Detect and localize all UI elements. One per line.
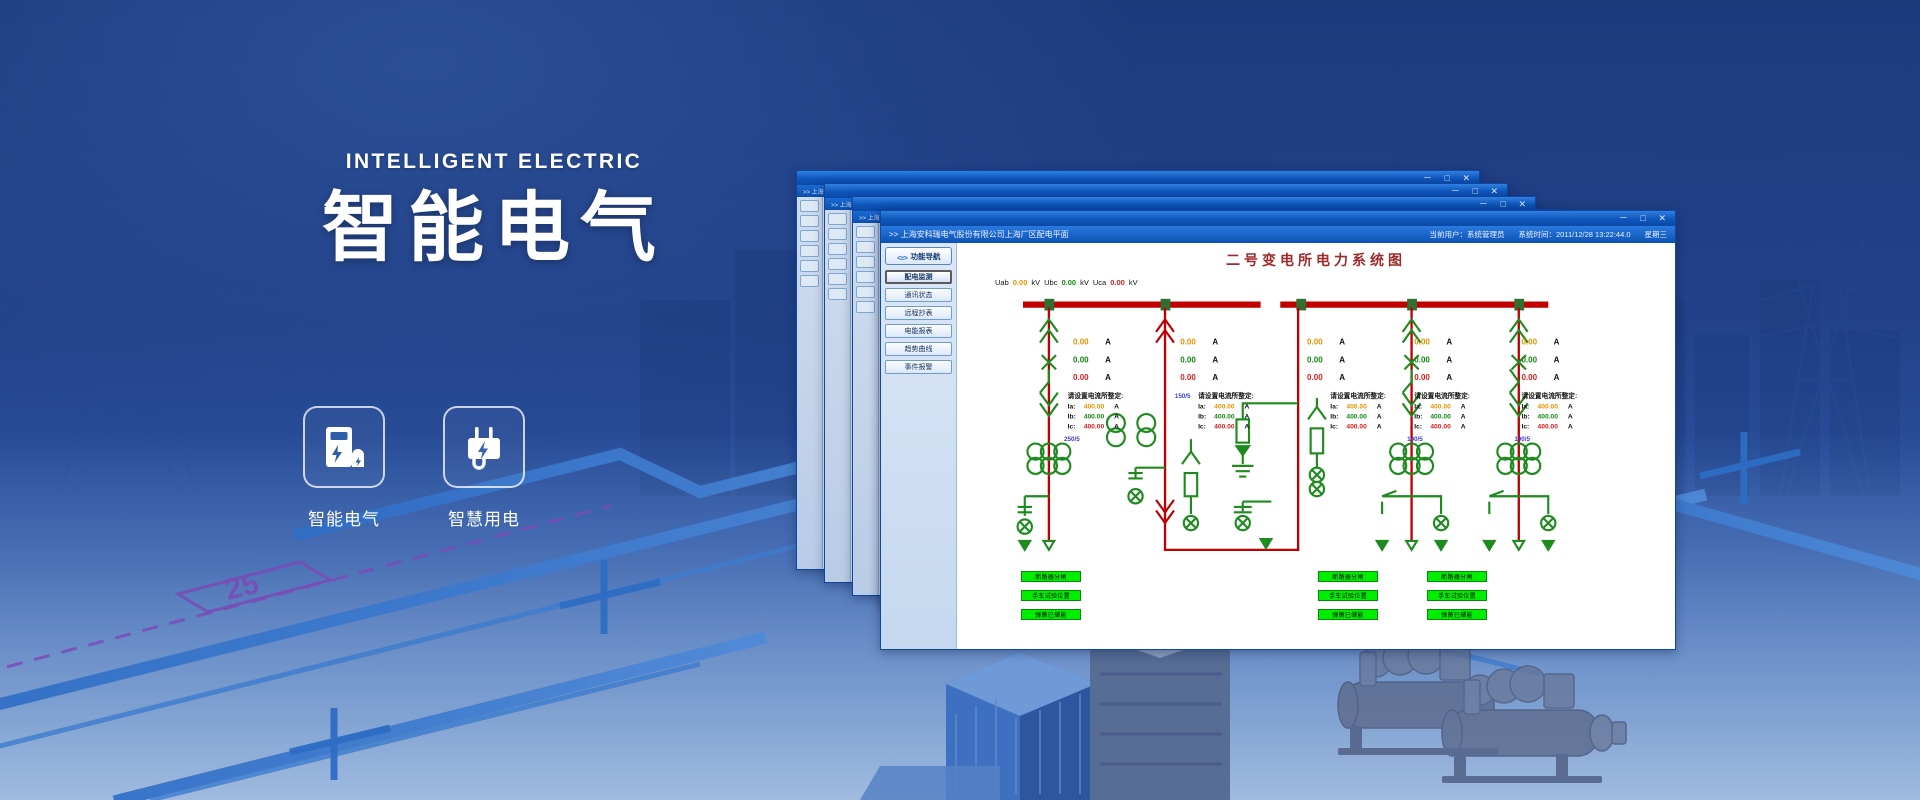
feeder-5-currents: 0.00 A 0.00 A 0.00 A (1521, 337, 1559, 382)
sidebar-button[interactable] (800, 260, 819, 272)
status-badge-trolley[interactable]: 手车试验位置 (1427, 590, 1487, 601)
setting-unit: A (1114, 414, 1119, 421)
sidebar-button[interactable] (828, 273, 847, 285)
single-line-diagram[interactable]: 二号变电所电力系统图 Uab 0.00 kV Ubc 0.00 kV Uca 0… (957, 243, 1675, 649)
setting-unit: A (1377, 404, 1382, 411)
voltage-unit: kV (1129, 278, 1138, 287)
zone-marker-25: 25 (178, 562, 330, 612)
sidebar-button[interactable] (800, 275, 819, 287)
setting-label-ic: Ic: (1068, 423, 1076, 430)
nav-item-label: 配电监测 (905, 272, 933, 282)
book-icon (897, 252, 908, 260)
current-b: 0.00 (1414, 355, 1430, 364)
setting-unit: A (1568, 414, 1573, 421)
setting-label-ib: Ib: (1198, 414, 1206, 421)
current-unit: A (1212, 355, 1218, 364)
sidebar-item-communication-status[interactable]: 通讯状态 (885, 288, 952, 302)
setting-value-ia: 400.00 (1214, 404, 1235, 411)
maximize-icon[interactable]: □ (1641, 213, 1651, 223)
setting-label-ia: Ia: (1330, 404, 1338, 411)
setting-value-ib: 400.00 (1346, 414, 1367, 421)
sidebar-item-remote-meter-reading[interactable]: 远程抄表 (885, 306, 952, 320)
setting-unit: A (1245, 414, 1250, 421)
setting-value-ib: 400.00 (1430, 414, 1451, 421)
setting-label-ic: Ic: (1521, 423, 1529, 430)
page-title: 智能电气 (296, 188, 692, 270)
feeder-5-settings: 请设置电流所整定: Ia: 400.00 A Ib: 400.00 A Ic: … (1514, 391, 1577, 443)
setting-label-ia: Ia: (1521, 404, 1529, 411)
feeder-4-settings: 请设置电流所整定: Ia: 400.00 A Ib: 400.00 A Ic: … (1407, 391, 1470, 443)
setting-label-ic: Ic: (1414, 423, 1422, 430)
sidebar-button[interactable] (828, 213, 847, 225)
feature-icon-box (443, 406, 525, 488)
status-badge-breaker[interactable]: 断路器分闸 (1021, 571, 1081, 582)
sld-svg[interactable]: 0.00 A 0.00 A 0.00 A 请设置电流所整定: Ia: 400.0… (957, 289, 1675, 557)
minimize-icon[interactable]: － (1619, 213, 1633, 223)
feature-list: 智能电气 智慧用电 (296, 406, 532, 530)
pt-earthing-branch (1232, 403, 1298, 548)
status-badge-breaker[interactable]: 断路器分闸 (1427, 571, 1487, 582)
setting-unit: A (1568, 423, 1573, 430)
setting-value-ic: 400.00 (1430, 423, 1451, 430)
close-icon[interactable]: ✕ (1658, 213, 1671, 223)
setting-title: 请设置电流所整定: (1414, 391, 1470, 400)
voltage-label-uca: Uca (1093, 278, 1106, 287)
status-badge-breaker[interactable]: 断路器分闸 (1318, 571, 1378, 582)
setting-title: 请设置电流所整定: (1521, 391, 1577, 400)
feature-label: 智能电气 (308, 505, 380, 530)
setting-unit: A (1568, 404, 1573, 411)
setting-unit: A (1461, 404, 1466, 411)
feeder-1-settings: 请设置电流所整定: Ia: 400.00 A Ib: 400.00 A Ic: … (1064, 391, 1123, 443)
window-stack: － □ ✕ >> 上海安科瑞电气股份有限公司上海厂区配电平面 当前用户：系统管理… (796, 170, 1676, 650)
setting-title: 请设置电流所整定: (1198, 391, 1254, 400)
nav-item-label: 电能报表 (905, 326, 933, 336)
status-badge-spring[interactable]: 弹簧已储能 (1427, 609, 1487, 620)
switchgear-column-1 (1018, 319, 1071, 549)
nav-item-label: 远程抄表 (905, 308, 933, 318)
current-unit: A (1339, 373, 1345, 382)
setting-unit: A (1114, 423, 1119, 430)
banner-root: 25 (0, 0, 1920, 800)
sidebar-button[interactable] (856, 271, 875, 283)
weekday-label: 星期三 (1645, 229, 1668, 240)
current-unit: A (1339, 337, 1345, 346)
power-plug-icon (458, 421, 510, 473)
voltage-unit: kV (1031, 278, 1040, 287)
ct-ratio: 100/5 (1407, 436, 1423, 443)
current-unit: A (1105, 355, 1111, 364)
setting-value-ia: 400.00 (1346, 404, 1367, 411)
current-c: 0.00 (1073, 373, 1089, 382)
setting-label-ib: Ib: (1414, 414, 1422, 421)
current-b: 0.00 (1073, 355, 1089, 364)
window-controls[interactable]: － □ ✕ (1619, 211, 1671, 225)
feeder-1-currents: 0.00 A 0.00 A 0.00 A (1073, 337, 1111, 382)
current-a: 0.00 (1521, 337, 1537, 346)
sidebar-button[interactable] (800, 230, 819, 242)
sidebar-button[interactable] (828, 258, 847, 270)
setting-value-ia: 400.00 (1084, 404, 1105, 411)
setting-unit: A (1377, 414, 1382, 421)
ct-column-2 (1107, 414, 1200, 530)
current-b: 0.00 (1307, 355, 1323, 364)
window-sidebar (825, 210, 851, 582)
sidebar-button[interactable] (828, 228, 847, 240)
current-unit: A (1554, 337, 1560, 346)
voltage-label-uab: Uab (995, 278, 1009, 287)
feeder-4-currents: 0.00 A 0.00 A 0.00 A (1414, 337, 1452, 382)
setting-unit: A (1461, 423, 1466, 430)
current-c: 0.00 (1521, 373, 1537, 382)
window-titlebar[interactable]: － □ ✕ (881, 211, 1675, 226)
sidebar-button[interactable] (800, 200, 819, 212)
setting-label-ib: Ib: (1521, 414, 1529, 421)
window-header-bar: >> 上海安科瑞电气股份有限公司上海厂区配电平面 当前用户：系统管理员 系统时间… (881, 226, 1675, 243)
nav-item-label: 通讯状态 (905, 290, 933, 300)
setting-unit: A (1114, 404, 1119, 411)
status-group-1: 断路器分闸 手车试验位置 弹簧已储能 (1021, 571, 1081, 628)
window-main-content: 功能导航 配电监测 通讯状态 远程抄表 电能报表 趋势曲线 (881, 243, 1675, 649)
status-badge-spring[interactable]: 弹簧已储能 (1021, 609, 1081, 620)
sidebar-item-power-monitoring[interactable]: 配电监测 (885, 270, 952, 284)
breadcrumb: >> 上海安科瑞电气股份有限公司上海厂区配电平面 (889, 229, 1069, 240)
setting-title: 请设置电流所整定: (1068, 391, 1124, 400)
diagram-title: 二号变电所电力系统图 (957, 250, 1675, 270)
current-user-label: 当前用户：系统管理员 (1429, 229, 1504, 240)
sidebar-button[interactable] (828, 243, 847, 255)
fuse-pt-column-3 (1308, 398, 1326, 496)
current-c: 0.00 (1307, 373, 1323, 382)
sidebar-button[interactable] (800, 245, 819, 257)
current-a: 0.00 (1414, 337, 1430, 346)
setting-value-ic: 400.00 (1538, 423, 1559, 430)
sidebar-button[interactable] (856, 301, 875, 313)
busbar-left (1023, 302, 1261, 308)
bus-voltage-readout: Uab 0.00 kV Ubc 0.00 kV Uca 0.00 kV (995, 278, 1675, 287)
hero-eyebrow: INTELLIGENT ELECTRIC (296, 150, 692, 174)
setting-label-ia: Ia: (1414, 404, 1422, 411)
feature-icon-box (303, 406, 385, 488)
current-unit: A (1212, 337, 1218, 346)
current-unit: A (1446, 355, 1452, 364)
setting-unit: A (1245, 423, 1250, 430)
feature-item-smart-power-use[interactable]: 智慧用电 (436, 406, 532, 530)
sidebar-button[interactable] (856, 226, 875, 238)
setting-value-ic: 400.00 (1214, 423, 1235, 430)
current-unit: A (1212, 373, 1218, 382)
feature-label: 智慧用电 (448, 505, 520, 530)
status-badge-trolley[interactable]: 手车试验位置 (1318, 590, 1378, 601)
setting-title: 请设置电流所整定: (1330, 391, 1386, 400)
current-a: 0.00 (1073, 337, 1089, 346)
nav-header-label: 功能导航 (911, 251, 941, 262)
setting-unit: A (1245, 404, 1250, 411)
sidebar-button[interactable] (856, 286, 875, 298)
current-unit: A (1554, 355, 1560, 364)
current-unit: A (1105, 337, 1111, 346)
feeder-2-currents: 0.00 A 0.00 A 0.00 A (1180, 337, 1218, 382)
feature-item-smart-electric[interactable]: 智能电气 (296, 406, 392, 530)
setting-label-ic: Ic: (1330, 423, 1338, 430)
setting-value-ia: 400.00 (1430, 404, 1451, 411)
sidebar-button[interactable] (856, 241, 875, 253)
current-c: 0.00 (1414, 373, 1430, 382)
voltage-label-ubc: Ubc (1044, 278, 1057, 287)
function-navigation-panel: 功能导航 配电监测 通讯状态 远程抄表 电能报表 趋势曲线 (881, 243, 957, 649)
current-a: 0.00 (1307, 337, 1323, 346)
nav-item-label: 趋势曲线 (905, 344, 933, 354)
current-unit: A (1446, 337, 1452, 346)
setting-value-ib: 400.00 (1538, 414, 1559, 421)
system-time-label: 系统时间：2011/12/28 13:22:44.0 (1518, 229, 1630, 240)
status-button-row: 断路器分闸 手车试验位置 弹簧已储能 断路器分闸 手车试验位置 弹簧已储能 断路… (957, 571, 1675, 635)
setting-value-ic: 400.00 (1346, 423, 1367, 430)
current-a: 0.00 (1180, 337, 1196, 346)
nav-header: 功能导航 (885, 247, 952, 265)
current-c: 0.00 (1180, 373, 1196, 382)
voltage-unit: kV (1080, 278, 1089, 287)
sidebar-item-trend-curve[interactable]: 趋势曲线 (885, 342, 952, 356)
sidebar-item-event-alarm[interactable]: 事件报警 (885, 360, 952, 374)
charging-meter-icon (318, 421, 370, 473)
setting-value-ia: 400.00 (1538, 404, 1559, 411)
setting-label-ic: Ic: (1198, 423, 1206, 430)
active-scada-window[interactable]: － □ ✕ >> 上海安科瑞电气股份有限公司上海厂区配电平面 当前用户：系统管理… (880, 210, 1676, 650)
nav-item-label: 事件报警 (905, 362, 933, 372)
current-b: 0.00 (1180, 355, 1196, 364)
status-badge-trolley[interactable]: 手车试验位置 (1021, 590, 1081, 601)
sidebar-button[interactable] (828, 288, 847, 300)
window-sidebar (853, 223, 879, 595)
voltage-value-uab: 0.00 (1013, 278, 1028, 287)
feeder-3-settings: 请设置电流所整定: Ia: 400.00 A Ib: 400.00 A Ic: … (1330, 391, 1386, 430)
status-group-3: 断路器分闸 手车试验位置 弹簧已储能 (1427, 571, 1487, 628)
hero-text-block: INTELLIGENT ELECTRIC 智能电气 (296, 150, 816, 270)
sidebar-button[interactable] (856, 256, 875, 268)
setting-unit: A (1377, 423, 1382, 430)
setting-label-ia: Ia: (1068, 404, 1076, 411)
setting-unit: A (1461, 414, 1466, 421)
window-sidebar (797, 197, 823, 569)
current-b: 0.00 (1521, 355, 1537, 364)
setting-value-ib: 400.00 (1214, 414, 1235, 421)
setting-label-ib: Ib: (1068, 414, 1076, 421)
voltage-value-ubc: 0.00 (1061, 278, 1076, 287)
ct-ratio: 250/5 (1064, 436, 1080, 443)
status-badge-spring[interactable]: 弹簧已储能 (1318, 609, 1378, 620)
current-unit: A (1554, 373, 1560, 382)
setting-value-ic: 400.00 (1084, 423, 1105, 430)
feeder-3-currents: 0.00 A 0.00 A 0.00 A (1307, 337, 1345, 382)
sidebar-button[interactable] (800, 215, 819, 227)
setting-value-ib: 400.00 (1084, 414, 1105, 421)
current-unit: A (1105, 373, 1111, 382)
current-unit: A (1339, 355, 1345, 364)
setting-label-ib: Ib: (1330, 414, 1338, 421)
ct-ratio: 150/5 (1175, 393, 1191, 400)
current-unit: A (1446, 373, 1452, 382)
voltage-value-uca: 0.00 (1110, 278, 1125, 287)
status-group-2: 断路器分闸 手车试验位置 弹簧已储能 (1318, 571, 1378, 628)
setting-label-ia: Ia: (1198, 404, 1206, 411)
sidebar-item-energy-report[interactable]: 电能报表 (885, 324, 952, 338)
ct-ratio: 100/5 (1514, 436, 1530, 443)
